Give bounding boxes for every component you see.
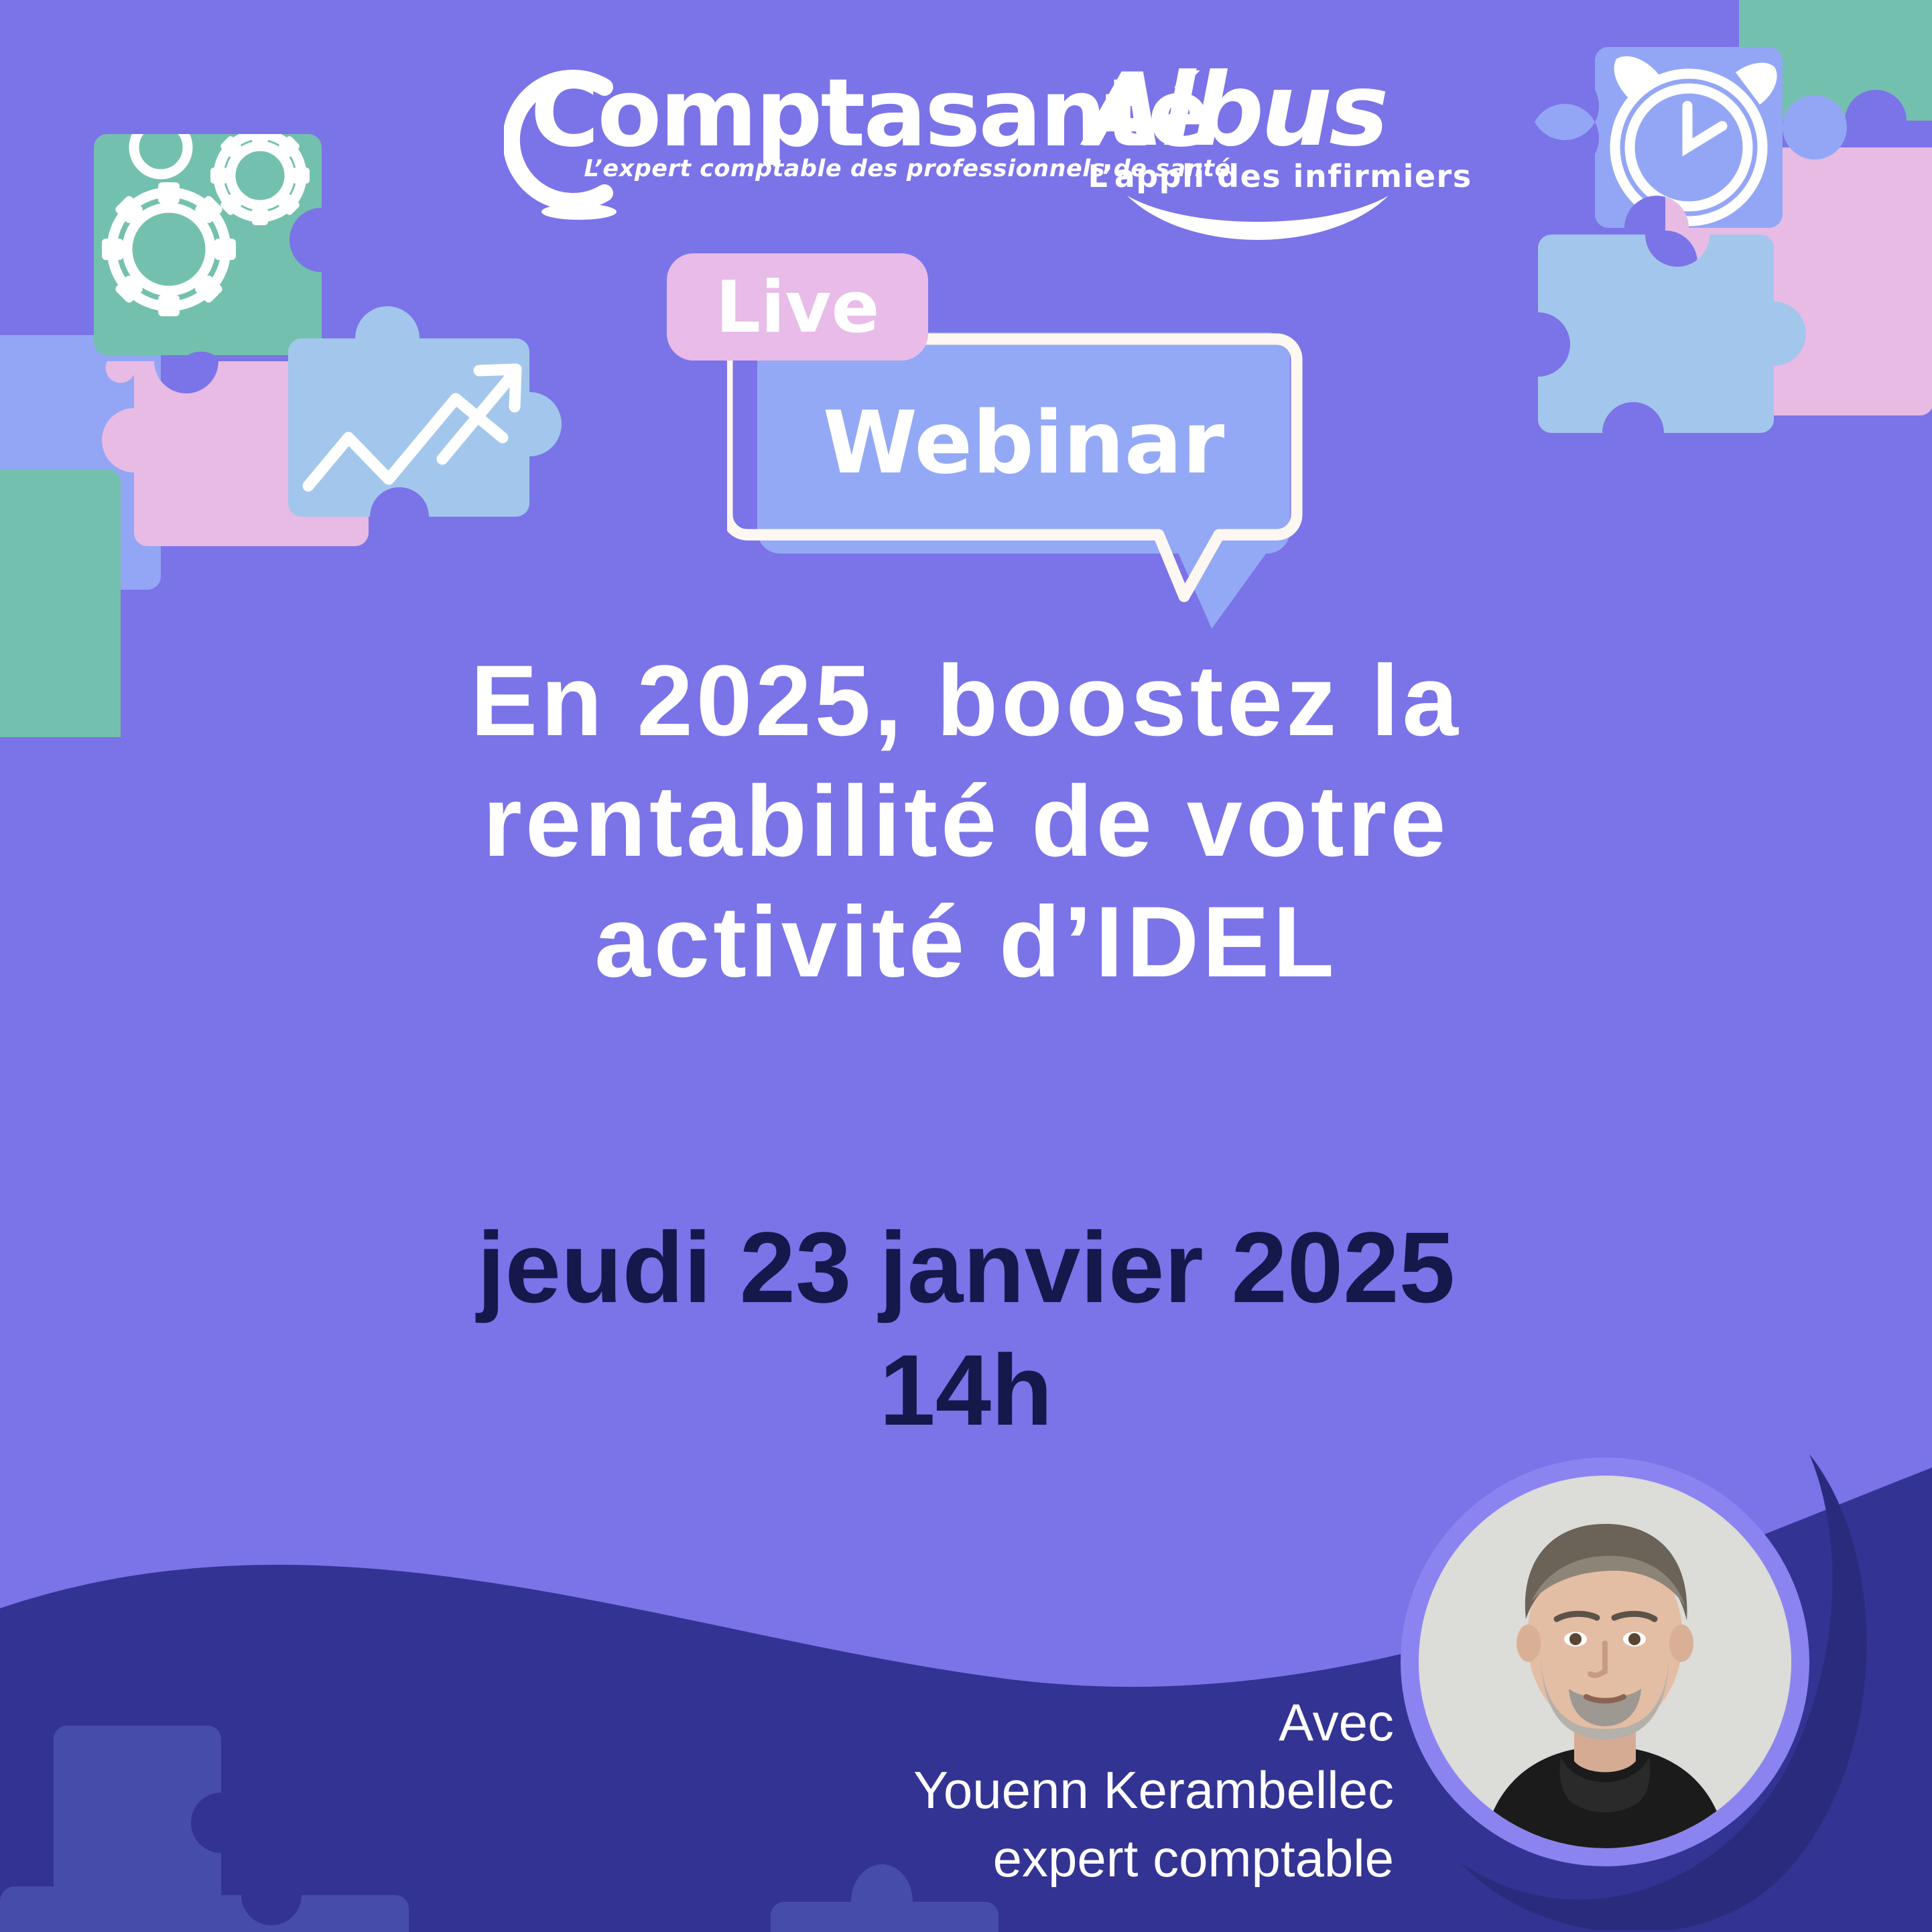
- webinar-label: Webinar: [757, 332, 1290, 554]
- albus-tagline: L’appli des infirmiers: [1088, 158, 1472, 194]
- albus-wordmark: Albus: [1087, 52, 1386, 169]
- live-webinar-badge: Live Webinar: [660, 253, 1303, 588]
- event-time: 14h: [127, 1329, 1805, 1452]
- decor-puzzle-ghost-3: [194, 1876, 409, 1932]
- headline-line-2: rentabilité de votre: [127, 761, 1805, 881]
- speaker-portrait-illustration: [1419, 1476, 1791, 1848]
- speaker-intro: Avec: [603, 1689, 1394, 1756]
- webinar-poster: Comptasanté L’expert comptable des profe…: [0, 0, 1932, 1932]
- speaker-name: Youenn Kerambellec: [603, 1756, 1394, 1824]
- headline-line-3: activité d’IDEL: [127, 881, 1805, 1002]
- speaker-credit: Avec Youenn Kerambellec expert comptable: [603, 1689, 1394, 1892]
- albus-logo: Albus L’appli des infirmiers: [1080, 62, 1429, 189]
- speaker-role: expert comptable: [603, 1825, 1394, 1892]
- event-date: jeudi 23 janvier 2025: [127, 1206, 1805, 1329]
- logo-row: Comptasanté L’expert comptable des profe…: [0, 62, 1932, 189]
- comptasante-logo: Comptasanté L’expert comptable des profe…: [504, 62, 1013, 189]
- albus-smile-icon: [1127, 193, 1389, 240]
- speaker-avatar-photo: [1419, 1476, 1791, 1848]
- headline: En 2025, boostez la rentabilité de votre…: [127, 640, 1805, 1002]
- decor-puzzle-growth-chart: [288, 258, 610, 539]
- speaker-avatar: [1401, 1458, 1809, 1866]
- headline-line-1: En 2025, boostez la: [127, 640, 1805, 761]
- decor-puzzle-ghost-2: [0, 1880, 134, 1932]
- decor-puzzle-lightblue-topright: [1531, 194, 1840, 462]
- event-datetime: jeudi 23 janvier 2025 14h: [127, 1206, 1805, 1452]
